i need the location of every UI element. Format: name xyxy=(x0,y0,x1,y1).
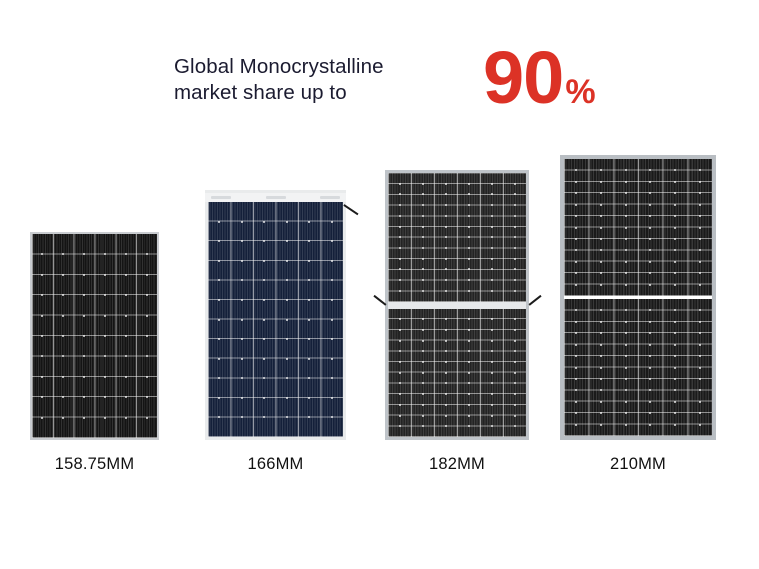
market-share-value: 90 xyxy=(483,41,563,115)
junction-box xyxy=(266,196,286,199)
solar-panel-182mm xyxy=(385,170,529,440)
headline-text-block: Global Monocrystalline market share up t… xyxy=(174,54,504,106)
cell-matrix xyxy=(564,299,712,436)
cell-matrix xyxy=(208,202,343,437)
panel-size-label: 166MM xyxy=(205,455,346,474)
solder-dots xyxy=(208,202,343,437)
junction-box-bar xyxy=(205,193,346,202)
solar-panel-166mm xyxy=(205,190,346,440)
cell-matrix xyxy=(564,159,712,296)
cell-matrix xyxy=(388,309,526,438)
junction-box xyxy=(320,196,340,199)
junction-box xyxy=(211,196,231,199)
solder-dots xyxy=(32,234,157,438)
headline-line-1: Global Monocrystalline xyxy=(174,54,504,80)
market-share-statistic: 90 % xyxy=(483,41,596,115)
cell-matrix xyxy=(32,234,157,438)
panel-size-label: 210MM xyxy=(560,455,716,474)
panel-cable xyxy=(529,294,542,304)
cell-matrix xyxy=(388,173,526,302)
percent-symbol: % xyxy=(565,75,595,109)
panel-size-label: 158.75MM xyxy=(30,455,159,474)
infographic-canvas: Global Monocrystalline market share up t… xyxy=(0,0,759,569)
solder-dots xyxy=(388,309,526,438)
solder-dots xyxy=(388,173,526,302)
panel-size-label: 182MM xyxy=(385,455,529,474)
panel-mid-split xyxy=(388,302,526,309)
solder-dots xyxy=(564,159,712,296)
solar-panel-158-75mm xyxy=(30,232,159,440)
solar-panel-210mm xyxy=(560,155,716,440)
headline-line-2: market share up to xyxy=(174,80,504,106)
solder-dots xyxy=(564,299,712,436)
